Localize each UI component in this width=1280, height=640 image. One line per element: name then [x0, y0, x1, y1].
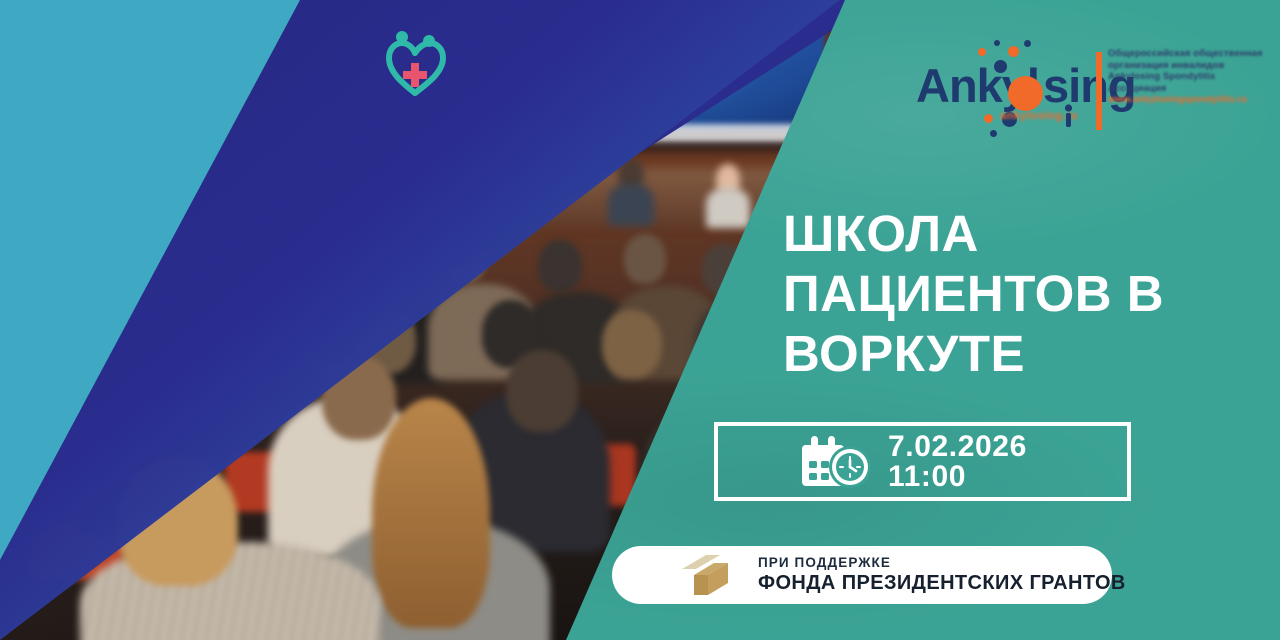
brand-org-line: организация инвалидов	[1108, 60, 1220, 72]
event-datetime-box: 7.02.2026 11:00	[714, 422, 1131, 501]
poster-title-line: ПАЦИЕНТОВ В	[783, 264, 1253, 324]
audience-head	[538, 240, 582, 292]
poster-title-line: ШКОЛА	[783, 204, 1253, 264]
brand-org-text: Общероссийская общественная организация …	[1108, 48, 1220, 106]
support-badge[interactable]: ПРИ ПОДДЕРЖКЕ ФОНДА ПРЕЗИДЕНТСКИХ ГРАНТО…	[612, 546, 1112, 604]
support-badge-line2: ФОНДА ПРЕЗИДЕНТСКИХ ГРАНТОВ	[758, 571, 1126, 595]
brand-orange-circle-icon	[1008, 76, 1043, 111]
brand-dot-icon	[994, 40, 1000, 46]
brand-person-icon	[1064, 104, 1073, 128]
brand-divider	[1096, 52, 1102, 130]
presidential-grants-fund-ribbon-icon	[680, 553, 742, 597]
event-poster: Ankyl sing ankylosing.ru Общероссийская …	[0, 0, 1280, 640]
audience-head	[602, 310, 662, 378]
panelist	[608, 184, 654, 226]
brand-org-line: Ankylosing Spondylitis	[1108, 71, 1220, 83]
calendar-clock-icon	[800, 436, 874, 488]
event-date: 7.02.2026	[888, 432, 1027, 462]
audience-head	[624, 234, 666, 284]
brand-dot-icon	[990, 130, 997, 137]
event-time: 11:00	[888, 462, 1027, 492]
ankylosing-brand-logo[interactable]: Ankyl sing ankylosing.ru Общероссийская …	[912, 26, 1217, 134]
brand-dot-icon	[1024, 40, 1031, 47]
two-people-heart-medical-cross-icon	[381, 31, 451, 99]
brand-org-line: Ассоциация	[1108, 83, 1220, 95]
brand-dot-icon	[994, 60, 1007, 73]
brand-org-line: Общероссийская общественная	[1108, 48, 1220, 60]
event-datetime-text: 7.02.2026 11:00	[888, 432, 1027, 492]
brand-dot-icon	[978, 48, 986, 56]
poster-title-line: ВОРКУТЕ	[783, 324, 1253, 384]
support-badge-text: ПРИ ПОДДЕРЖКЕ ФОНДА ПРЕЗИДЕНТСКИХ ГРАНТО…	[758, 555, 1126, 595]
panelist	[706, 188, 750, 228]
brand-dot-icon	[984, 114, 993, 123]
support-badge-line1: ПРИ ПОДДЕРЖКЕ	[758, 555, 1126, 571]
brand-org-url: www.ankylosingspondylitis.ru	[1108, 94, 1220, 106]
foreground-person-hair	[372, 398, 490, 628]
poster-title: ШКОЛА ПАЦИЕНТОВ В ВОРКУТЕ	[783, 204, 1253, 384]
brand-dot-icon	[1008, 46, 1019, 57]
audience-head	[506, 350, 578, 432]
